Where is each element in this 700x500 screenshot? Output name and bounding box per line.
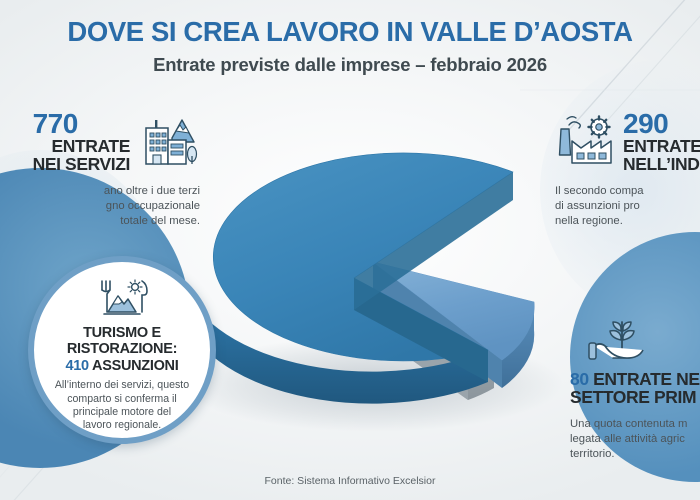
callout-services-number: 770 — [33, 110, 130, 138]
hand-sprout-icon — [588, 318, 700, 370]
badge-body-line1: All’interno dei servizi, questo — [55, 379, 189, 392]
callout-primary-body-line1: Una quota contenuta m — [570, 417, 700, 432]
pie-chart-svg — [168, 112, 588, 457]
infographic-canvas: DOVE SI CREA LAVORO IN VALLE D’AOSTA Ent… — [0, 0, 700, 500]
callout-primary-body: Una quota contenuta m legata alle attivi… — [570, 417, 700, 462]
callout-industry-body-line1: Il secondo compa — [555, 184, 700, 199]
callout-services-textblock: 770 ENTRATE NEI SERVIZI — [33, 110, 130, 174]
callout-primary-label-line2: SETTORE PRIM — [570, 388, 700, 406]
city-buildings-icon — [138, 112, 200, 172]
badge-body-line3: principale motore del — [55, 406, 189, 419]
callout-services-body-line2: gno occupazionale — [0, 199, 200, 214]
callout-services-head: 770 ENTRATE NEI SERVIZI — [0, 110, 200, 174]
callout-primary-label-line1: 80 ENTRATE NE — [570, 370, 700, 388]
callout-primary-sector: 80 ENTRATE NE SETTORE PRIM Una quota con… — [570, 318, 700, 461]
callout-industry-label-line2: NELL’INDU — [623, 156, 700, 174]
callout-industry: 290 ENTRATE NELL’INDU Il secondo compa d… — [555, 110, 700, 228]
factory-gear-icon — [555, 113, 615, 171]
callout-services: 770 ENTRATE NEI SERVIZI — [0, 110, 200, 228]
page-title: DOVE SI CREA LAVORO IN VALLE D’AOSTA — [0, 18, 700, 47]
callout-services-label-line2: NEI SERVIZI — [33, 156, 130, 174]
callout-primary-body-line3: territorio. — [570, 447, 700, 462]
badge-body-line2: comparto si conferma il — [55, 393, 189, 406]
source-note: Fonte: Sistema Informativo Excelsior — [0, 475, 700, 487]
pie-chart — [168, 112, 588, 457]
badge-title-line3: 410 ASSUNZIONI — [66, 358, 179, 374]
page-subtitle: Entrate previste dalle imprese – febbrai… — [0, 54, 700, 76]
badge-number: 410 — [66, 358, 89, 374]
callout-services-body-line1: ano oltre i due terzi — [0, 184, 200, 199]
callout-services-body-line3: totale del mese. — [0, 214, 200, 229]
callout-industry-number: 290 — [623, 110, 700, 138]
callout-primary-number: 80 — [570, 369, 589, 389]
badge-tourism-restaurants: TURISMO E RISTORAZIONE: 410 ASSUNZIONI A… — [28, 256, 216, 444]
header: DOVE SI CREA LAVORO IN VALLE D’AOSTA Ent… — [0, 18, 700, 76]
callout-primary-body-line2: legata alle attività agric — [570, 432, 700, 447]
badge-body: All’interno dei servizi, questo comparto… — [41, 379, 203, 433]
badge-title-line1: TURISMO E — [66, 325, 179, 341]
badge-body-line4: lavoro regionale. — [55, 419, 189, 432]
badge-title-assunzioni: ASSUNZIONI — [92, 358, 178, 374]
callout-industry-body-line2: di assunzioni pro — [555, 199, 700, 214]
callout-industry-head: 290 ENTRATE NELL’INDU — [555, 110, 700, 174]
badge-title: TURISMO E RISTORAZIONE: 410 ASSUNZIONI — [66, 325, 179, 374]
fork-knife-mountain-icon — [94, 278, 150, 320]
callout-services-body: ano oltre i due terzi gno occupazionale … — [0, 184, 200, 229]
callout-industry-body: Il secondo compa di assunzioni pro nella… — [555, 184, 700, 229]
callout-industry-body-line3: nella regione. — [555, 214, 700, 229]
badge-title-line2: RISTORAZIONE: — [66, 341, 179, 357]
callout-industry-textblock: 290 ENTRATE NELL’INDU — [623, 110, 700, 174]
callout-primary-label-text1: ENTRATE NE — [593, 369, 700, 389]
